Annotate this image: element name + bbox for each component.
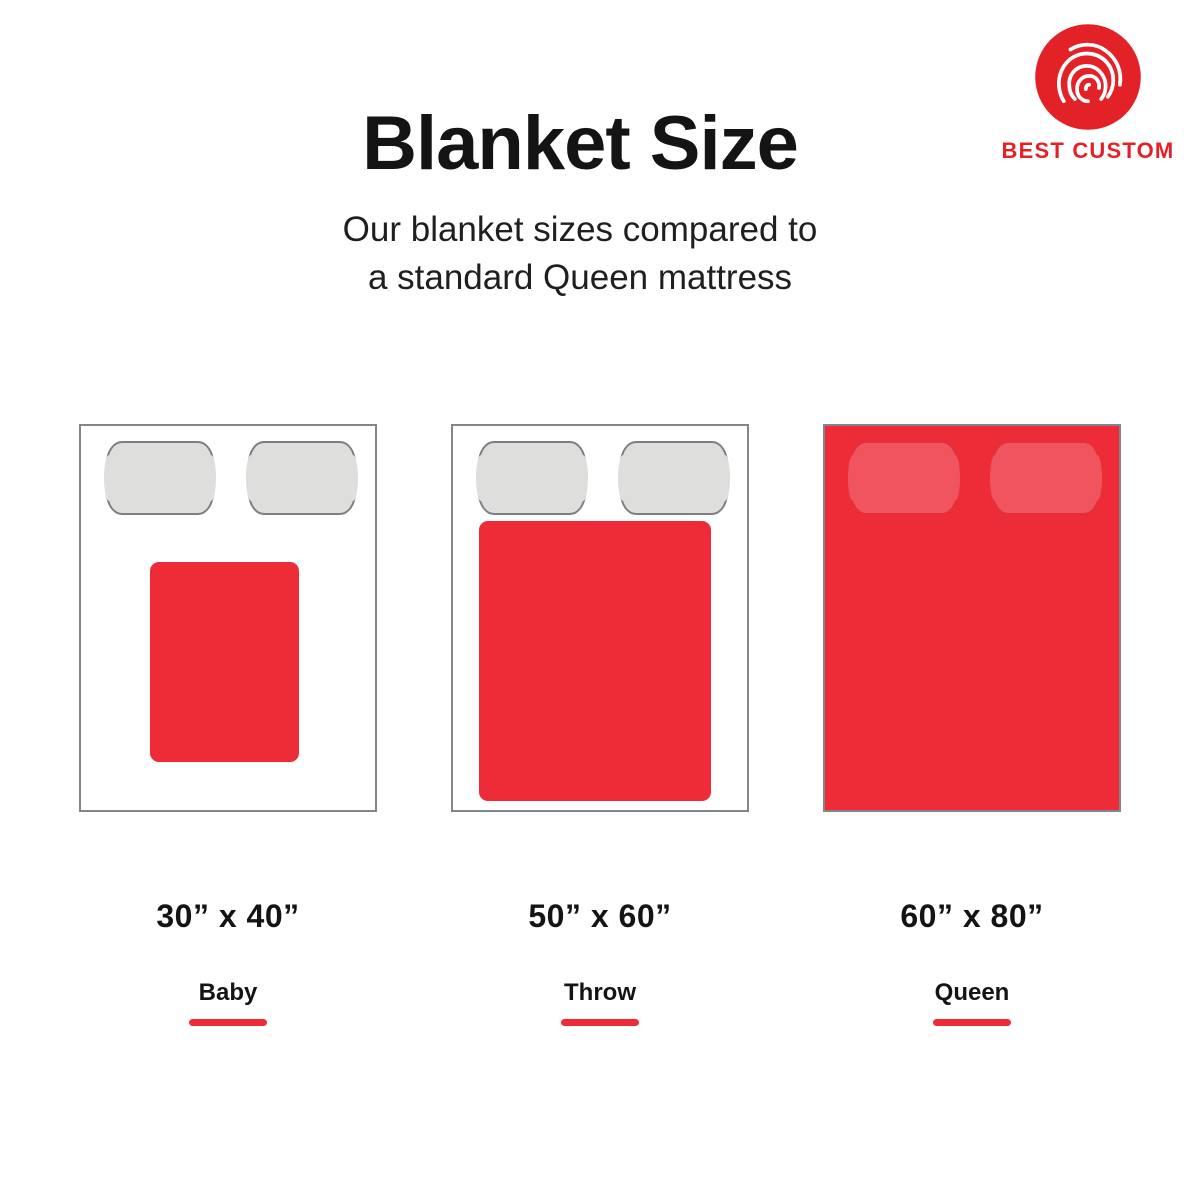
pillow-left-throw [478, 441, 586, 515]
dimension-label-queen: 60” x 80” [900, 898, 1043, 935]
page-subtitle: Our blanket sizes compared to a standard… [0, 206, 1160, 303]
size-name-baby: Baby [199, 979, 258, 1007]
dimension-label-throw: 50” x 60” [528, 898, 671, 935]
underline-accent-baby [189, 1019, 267, 1026]
size-name-queen: Queen [935, 979, 1010, 1007]
mattress-outline-throw [451, 424, 749, 812]
mattress-outline-queen [823, 424, 1121, 812]
bed-column-baby [79, 424, 377, 812]
pillow-left-baby [106, 441, 214, 515]
dimension-label-baby: 30” x 40” [156, 898, 299, 935]
caption-queen: 60” x 80” Queen [823, 898, 1121, 1026]
caption-baby: 30” x 40” Baby [79, 898, 377, 1026]
underline-accent-throw [561, 1019, 639, 1026]
subtitle-line-1: Our blanket sizes compared to [0, 206, 1160, 254]
header: Blanket Size Our blanket sizes compared … [0, 104, 1200, 302]
caption-row: 30” x 40” Baby 50” x 60” Throw 60” x 80”… [0, 898, 1200, 1026]
pillow-right-queen [992, 441, 1100, 515]
bed-comparison-row [0, 424, 1200, 812]
bed-column-throw [451, 424, 749, 812]
mattress-outline-baby [79, 424, 377, 812]
bed-column-queen [823, 424, 1121, 812]
underline-accent-queen [933, 1019, 1011, 1026]
page-title: Blanket Size [0, 104, 1160, 184]
pillow-right-throw [620, 441, 728, 515]
baby-blanket [150, 562, 299, 762]
caption-throw: 50” x 60” Throw [451, 898, 749, 1026]
size-name-throw: Throw [564, 979, 636, 1007]
pillow-right-baby [248, 441, 356, 515]
pillow-left-queen [850, 441, 958, 515]
throw-blanket [479, 521, 711, 801]
subtitle-line-2: a standard Queen mattress [0, 254, 1160, 302]
